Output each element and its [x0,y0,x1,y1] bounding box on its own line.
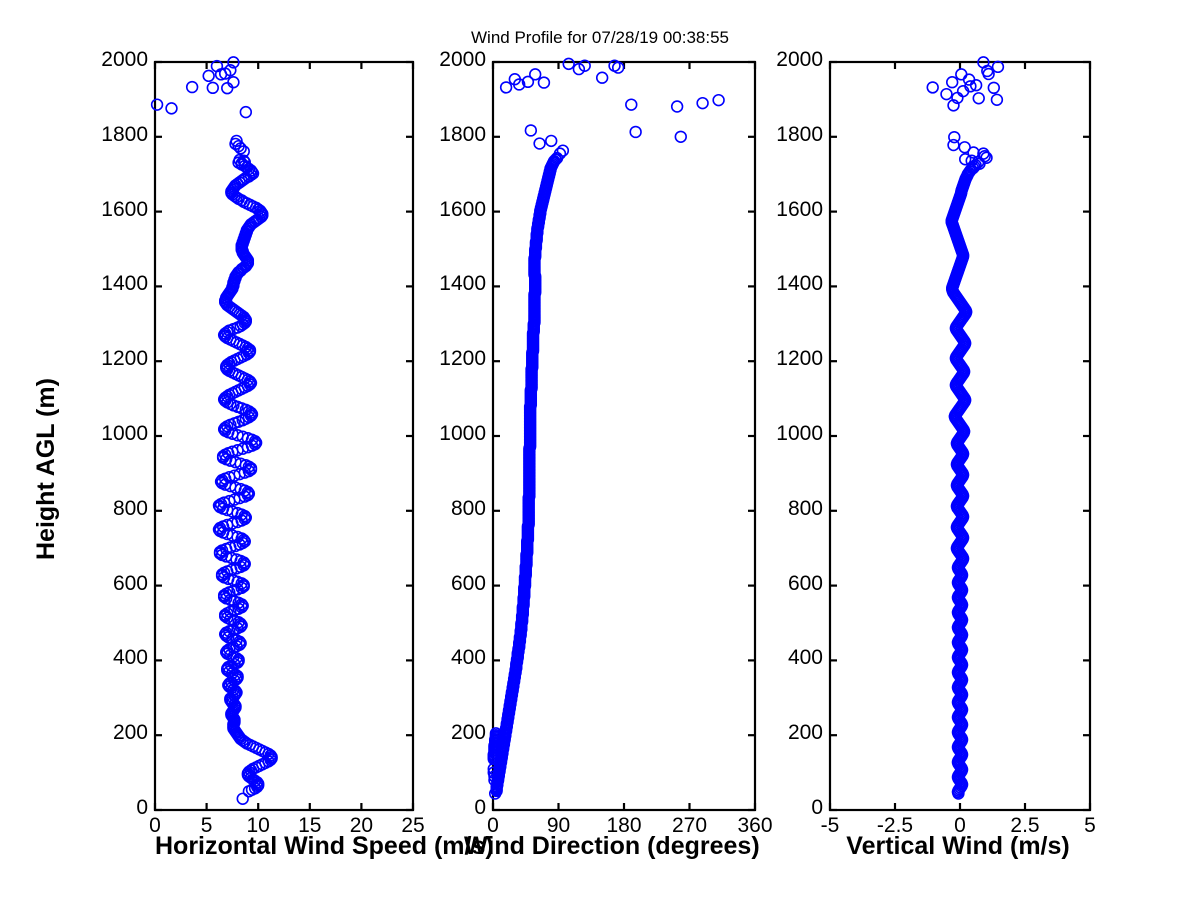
axes-panel1 [152,57,413,810]
y-tick-label: 2000 [401,48,486,72]
x-axis-label-panel2: Wind Direction (degrees) [464,832,754,861]
y-tick-label: 1000 [401,422,486,446]
axes-panel2 [488,58,755,810]
axes-panel3 [830,57,1090,810]
data-point [697,98,708,109]
y-tick-label: 1200 [738,347,823,371]
y-tick-label: 1800 [63,123,148,147]
data-point [713,95,724,106]
y-tick-label: 200 [401,721,486,745]
y-tick-label: 600 [63,572,148,596]
data-point [563,58,574,69]
data-point [992,94,1003,105]
data-point [557,145,568,156]
y-tick-label: 200 [738,721,823,745]
x-axis-label-panel1: Horizontal Wind Speed (m/s) [155,832,413,861]
data-point [501,82,512,93]
data-point [941,89,952,100]
data-point [166,103,177,114]
data-point [240,107,251,118]
axes-box [155,62,413,810]
y-tick-label: 400 [738,646,823,670]
data-point [956,69,967,80]
y-tick-label: 2000 [738,48,823,72]
y-tick-label: 200 [63,721,148,745]
y-tick-label: 2000 [63,48,148,72]
y-tick-label: 1600 [401,198,486,222]
y-tick-label: 1400 [401,272,486,296]
data-series-panel3 [927,57,1003,799]
y-tick-label: 0 [401,796,486,820]
y-tick-label: 1400 [738,272,823,296]
y-tick-label: 800 [738,497,823,521]
data-point [675,131,686,142]
y-tick-label: 1800 [738,123,823,147]
data-point [222,83,233,94]
data-point [927,82,938,93]
y-tick-label: 0 [738,796,823,820]
data-point [525,125,536,136]
data-point [530,69,541,80]
data-point [597,72,608,83]
data-point [207,82,218,93]
y-tick-label: 600 [738,572,823,596]
data-point [534,138,545,149]
data-point [630,127,641,138]
data-point [948,140,959,151]
plot-canvas [0,0,1200,900]
data-series-panel2 [488,58,724,798]
data-point [203,70,214,81]
data-point [546,136,557,147]
y-tick-label: 1000 [63,422,148,446]
data-point [539,77,550,88]
data-point [672,101,683,112]
y-tick-label: 1400 [63,272,148,296]
y-tick-label: 1600 [738,198,823,222]
data-point [187,82,198,93]
data-point [152,99,163,110]
y-tick-label: 600 [401,572,486,596]
y-tick-label: 1200 [401,347,486,371]
data-point [613,62,624,73]
data-point [988,82,999,93]
y-tick-label: 0 [63,796,148,820]
data-point [237,793,248,804]
y-tick-label: 1800 [401,123,486,147]
y-tick-label: 800 [401,497,486,521]
wind-profile-figure: Wind Profile for 07/28/19 00:38:55 Heigh… [0,0,1200,900]
data-point [973,93,984,104]
y-tick-label: 1000 [738,422,823,446]
y-tick-label: 400 [63,646,148,670]
data-point [964,74,975,85]
x-axis-label-panel3: Vertical Wind (m/s) [826,832,1090,861]
y-tick-label: 400 [401,646,486,670]
y-tick-label: 1200 [63,347,148,371]
data-point [626,99,637,110]
data-series-panel1 [152,57,277,804]
y-tick-label: 1600 [63,198,148,222]
data-point [947,77,958,88]
data-point [228,77,239,88]
y-tick-label: 800 [63,497,148,521]
